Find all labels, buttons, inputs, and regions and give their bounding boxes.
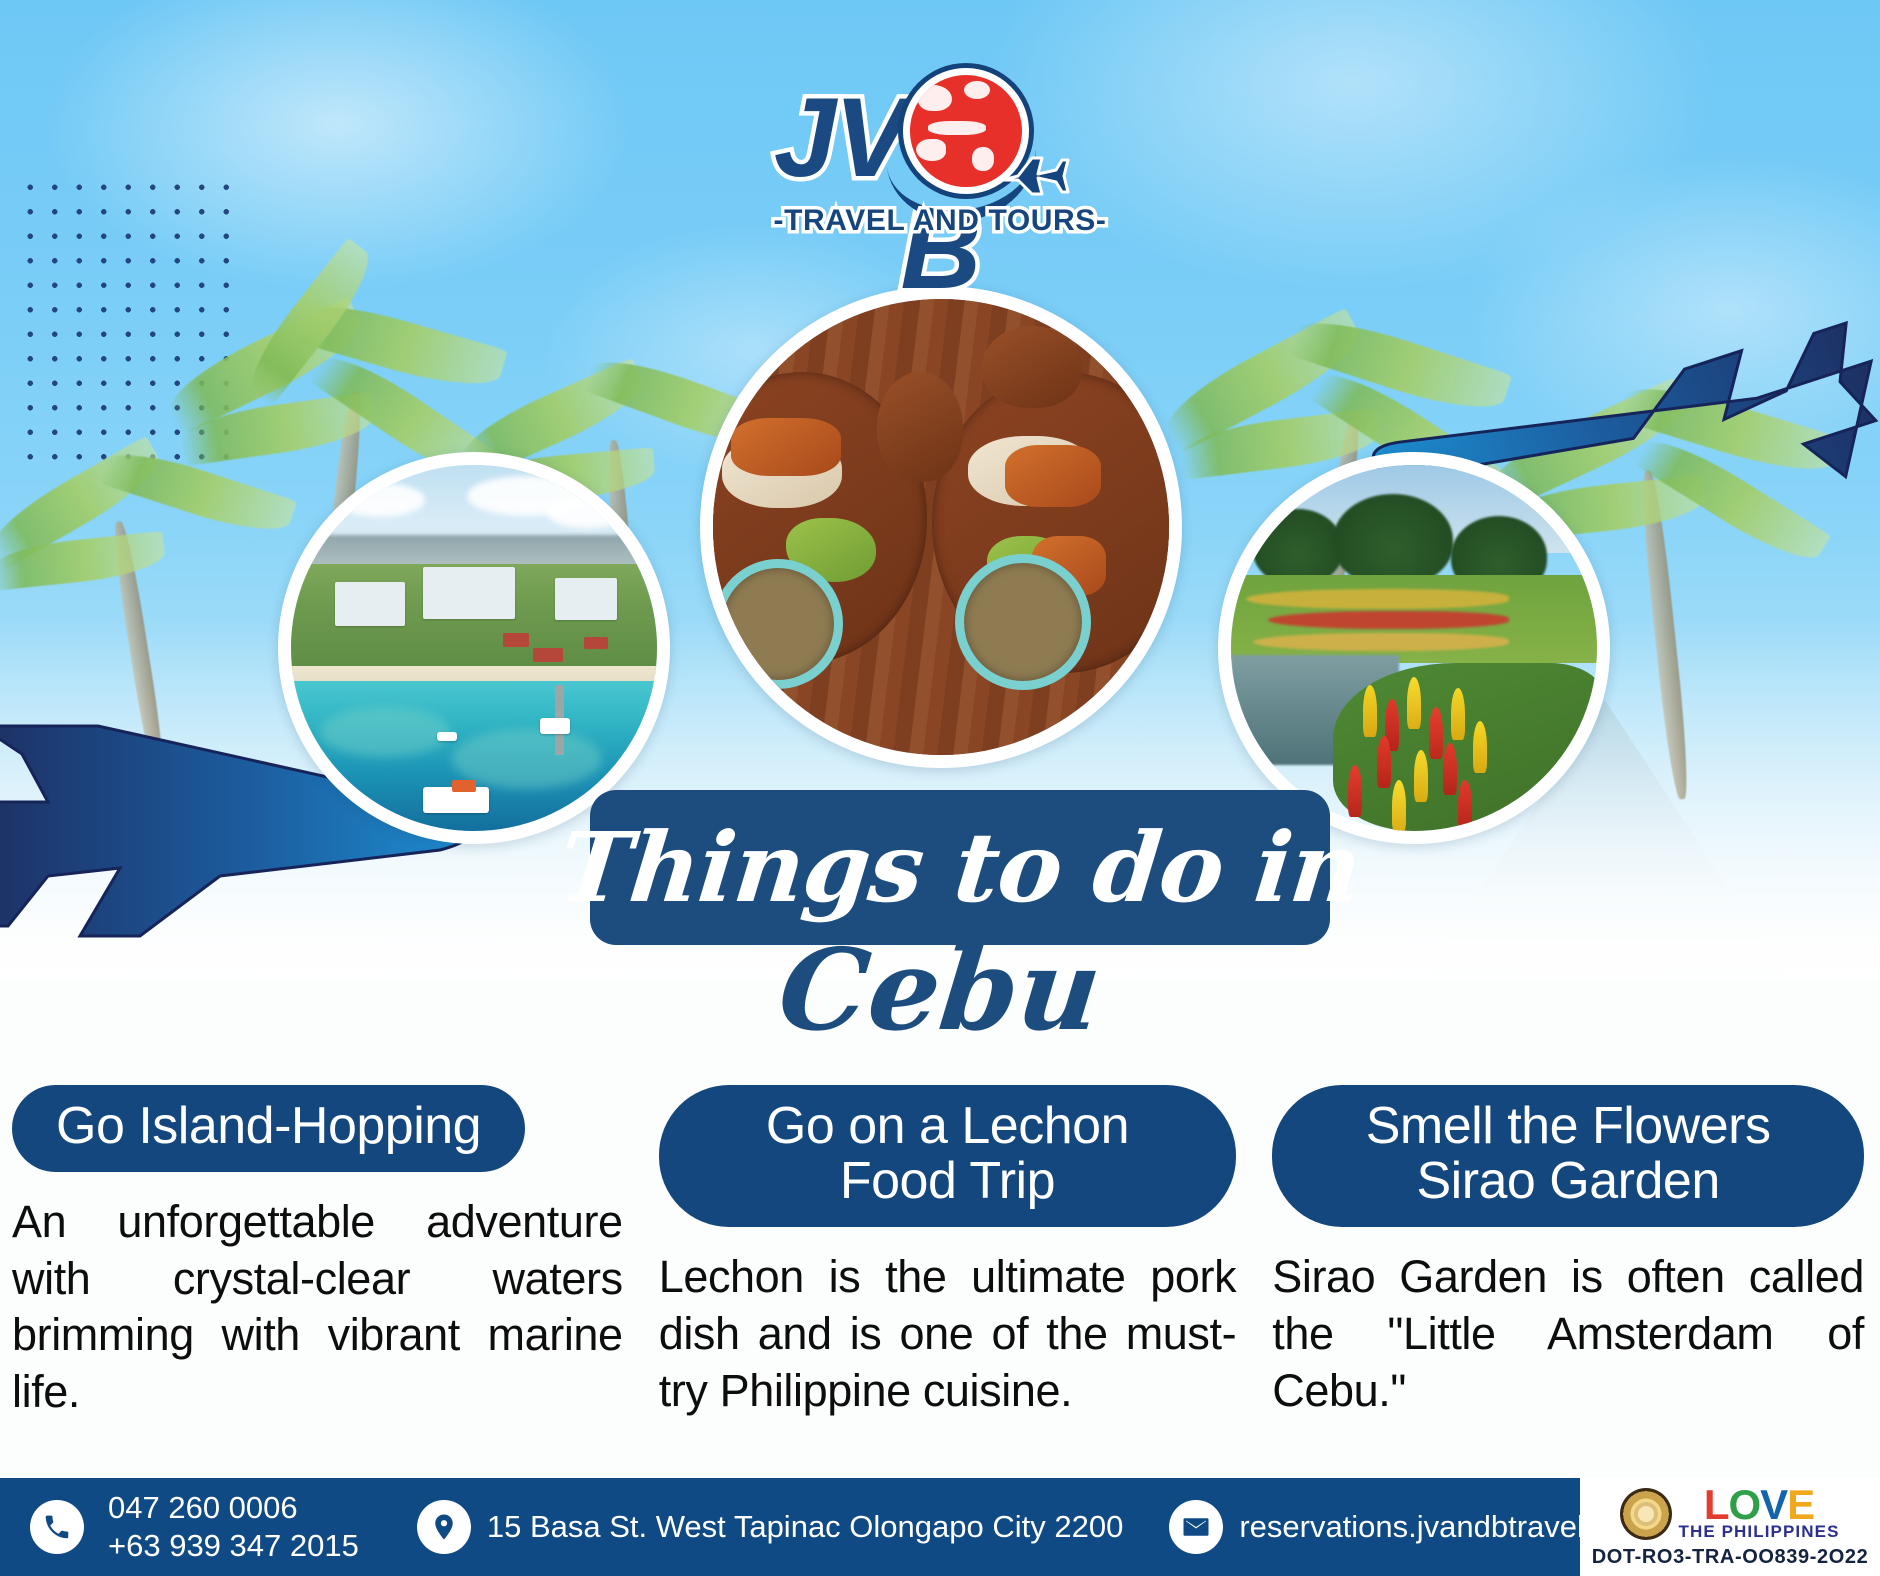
body-island-hopping: An unforgettable adventure with crystal-…: [12, 1194, 623, 1421]
love-letter-l: L: [1704, 1486, 1729, 1525]
column-sirao-garden: Smell the Flowers Sirao Garden Sirao Gar…: [1254, 1085, 1880, 1455]
travel-poster: JV OO B -TRAVEL AND TOURS-: [0, 0, 1880, 1576]
phone-numbers: 047 260 0006 +63 939 347 2015: [108, 1489, 359, 1565]
address-text: 15 Basa St. West Tapinac Olongapo City 2…: [487, 1508, 1123, 1546]
heading-lechon-food-trip: Go on a Lechon Food Trip: [659, 1085, 1237, 1227]
column-lechon-food-trip: Go on a Lechon Food Trip Lechon is the u…: [641, 1085, 1255, 1455]
love-philippines-logo: L O V E: [1704, 1486, 1814, 1525]
column-island-hopping: Go Island-Hopping An unforgettable adven…: [0, 1085, 641, 1455]
heading-island-hopping: Go Island-Hopping: [12, 1085, 525, 1172]
content-columns: Go Island-Hopping An unforgettable adven…: [0, 1085, 1880, 1455]
brand-logo: JV OO B -TRAVEL AND TOURS-: [740, 32, 1140, 254]
contact-footer: 047 260 0006 +63 939 347 2015 15 Basa St…: [0, 1478, 1880, 1576]
photo-lechon-food: [700, 286, 1182, 768]
dot-accreditation-number: DOT-RO3-TRA-OO839-2O22: [1592, 1546, 1869, 1569]
location-pin-icon: [417, 1500, 471, 1554]
phone-icon: [30, 1500, 84, 1554]
dot-accreditation-badge: L O V E THE PHILIPPINES DOT-RO3-TRA-OO83…: [1580, 1478, 1880, 1576]
love-philippines-subtitle: THE PHILIPPINES: [1678, 1522, 1839, 1542]
phone-number-2: +63 939 347 2015: [108, 1527, 359, 1565]
love-letter-o: O: [1728, 1486, 1760, 1525]
logo-subtitle: -TRAVEL AND TOURS-: [740, 204, 1140, 238]
title-line-1: Things to do in: [555, 820, 1365, 916]
body-lechon-food-trip: Lechon is the ultimate pork dish and is …: [659, 1249, 1237, 1419]
love-letter-e: E: [1787, 1486, 1814, 1525]
envelope-icon: [1169, 1500, 1223, 1554]
love-letter-v: V: [1760, 1486, 1787, 1525]
phone-contact[interactable]: 047 260 0006 +63 939 347 2015: [30, 1489, 359, 1565]
dot-seal-icon: [1620, 1488, 1672, 1540]
title-banner: Things to do in: [590, 790, 1330, 945]
photo-island-hopping: [278, 452, 670, 844]
heading-sirao-garden: Smell the Flowers Sirao Garden: [1272, 1085, 1864, 1227]
title-line-2: Cebu: [0, 935, 1880, 1047]
photo-sirao-garden: [1218, 452, 1610, 844]
address-contact[interactable]: 15 Basa St. West Tapinac Olongapo City 2…: [417, 1500, 1123, 1554]
dot-grid-decoration: [18, 175, 236, 460]
body-sirao-garden: Sirao Garden is often called the "Little…: [1272, 1249, 1864, 1419]
phone-number-1: 047 260 0006: [108, 1489, 359, 1527]
airplane-logo-icon: [998, 150, 1070, 198]
